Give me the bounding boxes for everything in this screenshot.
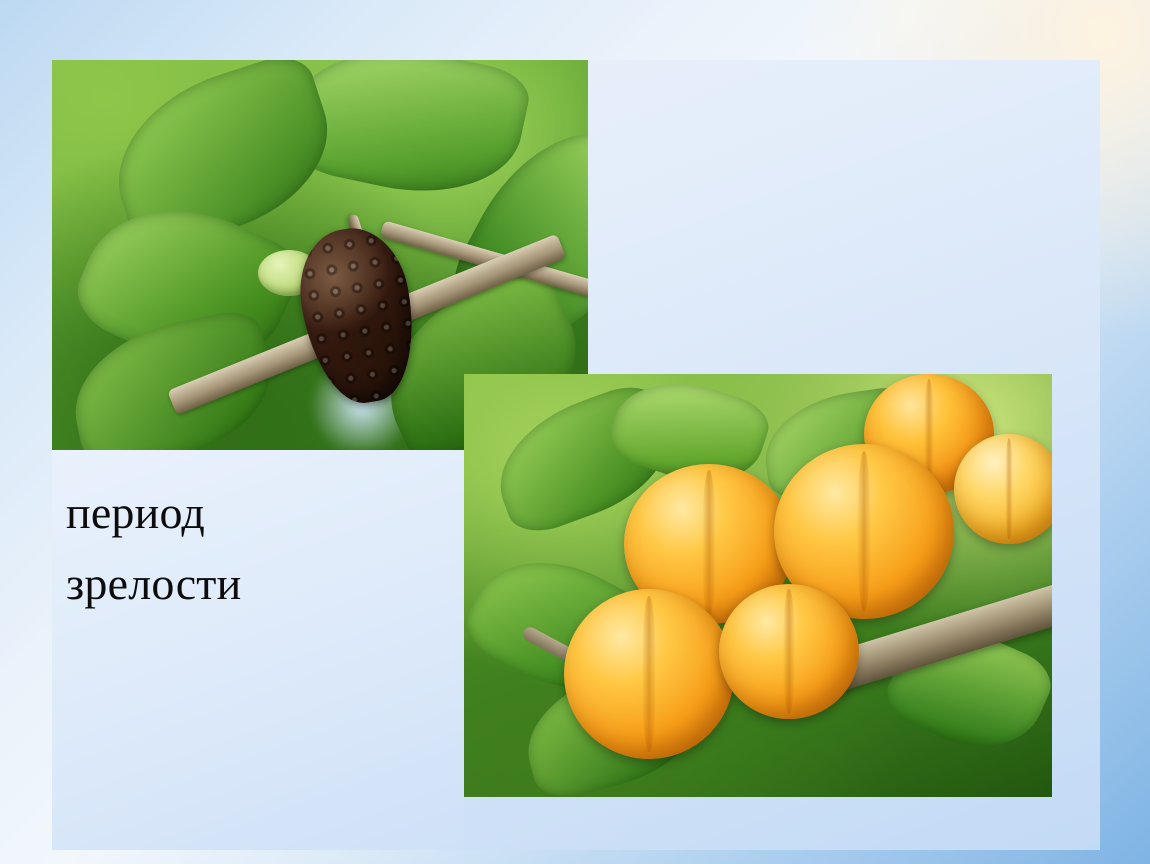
slide-caption: период зрелости bbox=[66, 477, 486, 620]
apricot-fruit-shape bbox=[564, 589, 734, 759]
apricot-fruit-shape bbox=[954, 434, 1052, 544]
apricot-photo bbox=[464, 374, 1052, 797]
slide-canvas: период зрелости bbox=[0, 0, 1150, 864]
apricot-fruit-shape bbox=[719, 584, 859, 719]
